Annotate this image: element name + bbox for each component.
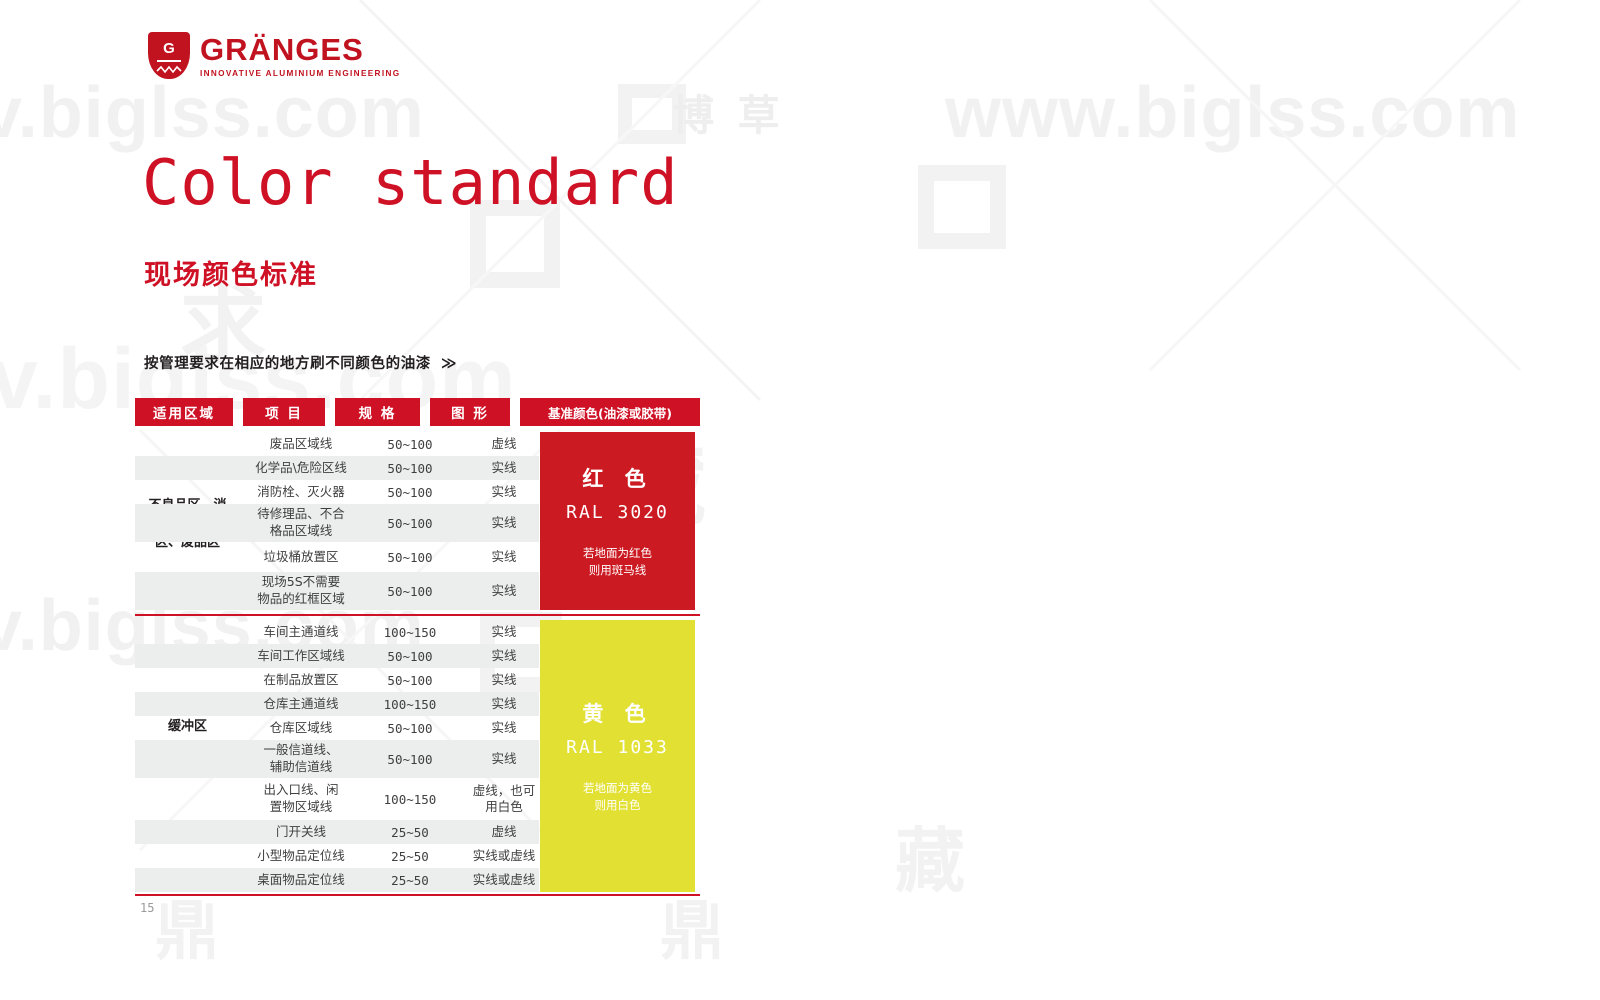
swatch-red: 红 色 RAL 3020 若地面为红色 则用斑马线 [540,432,695,610]
cell-item: 仓库主通道线 [240,692,362,716]
cell-spec: 50~100 [362,504,458,542]
cell-spec: 50~100 [362,572,458,610]
cell-spec: 25~50 [362,844,458,868]
cell-item: 在制品放置区 [240,668,362,692]
divider-rule-2 [135,894,700,896]
swatch-note: 若地面为黄色 则用白色 [583,780,652,815]
right-page: A 基本原则 Basic Principle 适用区域 项 目 规 格 图 形 … [800,0,1600,1000]
cell-item: 桌面物品定位线 [240,868,362,892]
page-title: Color standard [142,152,679,214]
wave-icon [156,65,182,74]
cell-item: 废品区域线 [240,432,362,456]
swatch-note: 若地面为红色 则用斑马线 [583,545,652,580]
swatch-name: 红 色 [582,463,652,493]
cell-item: 出入口线、闲 置物区域线 [240,778,362,820]
swatch-yellow: 黄 色 RAL 1033 若地面为黄色 则用白色 [540,620,695,892]
cell-spec: 50~100 [362,644,458,668]
swatch-ral: RAL 1033 [566,737,669,758]
page-subtitle: 现场颜色标准 [144,253,318,292]
cell-spec: 50~100 [362,480,458,504]
shield-letter: G [163,41,175,56]
left-page: G GRÄNGES INNOVATIVE ALUMINIUM ENGINEERI… [0,0,800,1000]
cell-spec: 50~100 [362,668,458,692]
col-header-shape: 图 形 [430,398,510,426]
cell-spec: 50~100 [362,716,458,740]
cell-spec: 100~150 [362,620,458,644]
col-header-area: 适用区域 [135,398,233,426]
cell-shape: 虚线 [458,432,550,456]
cell-shape: 实线 [458,668,550,692]
brochure-spread: v.biglss.com v.biglss.com www.biglss.com… [0,0,1600,1000]
cell-item: 垃圾桶放置区 [240,542,362,572]
cell-spec: 50~100 [362,456,458,480]
cell-item: 小型物品定位线 [240,844,362,868]
cell-spec: 100~150 [362,778,458,820]
swatch-name: 黄 色 [582,698,652,728]
cell-spec: 50~100 [362,740,458,778]
cell-item: 一般信道线、 辅助信道线 [240,740,362,778]
cell-shape: 实线 [458,740,550,778]
cell-shape: 实线 [458,456,550,480]
cell-spec: 50~100 [362,432,458,456]
cell-item: 待修理品、不合 格品区域线 [240,504,362,542]
cell-shape: 实线 [458,620,550,644]
cell-item: 消防栓、灭火器 [240,480,362,504]
cell-shape: 实线 [458,542,550,572]
cell-item: 仓库区域线 [240,716,362,740]
cell-shape: 实线或虚线 [458,868,550,892]
lead-label: 按管理要求在相应的地方刷不同颜色的油漆 [144,352,431,373]
cell-shape: 实线 [458,716,550,740]
chevron-right-icon: ≫ [441,354,457,372]
brand-name: GRÄNGES [200,34,400,65]
col-header-spec: 规 格 [335,398,420,426]
swatch-ral: RAL 3020 [566,502,669,523]
cell-item: 门开关线 [240,820,362,844]
cell-shape: 实线 [458,504,550,542]
cell-spec: 25~50 [362,820,458,844]
cell-item: 现场5S不需要 物品的红框区域 [240,572,362,610]
cell-item: 车间工作区域线 [240,644,362,668]
cell-spec: 100~150 [362,692,458,716]
cell-shape: 实线 [458,644,550,668]
cell-shape: 虚线 [458,820,550,844]
granges-logo: G GRÄNGES INNOVATIVE ALUMINIUM ENGINEERI… [148,32,400,79]
lead-text: 按管理要求在相应的地方刷不同颜色的油漆 ≫ [144,352,457,373]
brand-tagline: INNOVATIVE ALUMINIUM ENGINEERING [200,69,400,78]
page-number-left: 15 [140,901,154,915]
cell-shape: 实线 [458,692,550,716]
cell-shape: 实线 [458,572,550,610]
shield-icon: G [148,32,190,79]
cell-shape: 实线 [458,480,550,504]
cell-item: 化学品\危险区线 [240,456,362,480]
col-header-color: 基准颜色(油漆或胶带) [520,398,700,426]
col-header-item: 项 目 [243,398,325,426]
divider-rule-1 [135,614,700,616]
cell-item: 车间主通道线 [240,620,362,644]
cell-shape: 虚线，也可 用白色 [458,778,550,820]
cell-spec: 25~50 [362,868,458,892]
cell-shape: 实线或虚线 [458,844,550,868]
cell-spec: 50~100 [362,542,458,572]
